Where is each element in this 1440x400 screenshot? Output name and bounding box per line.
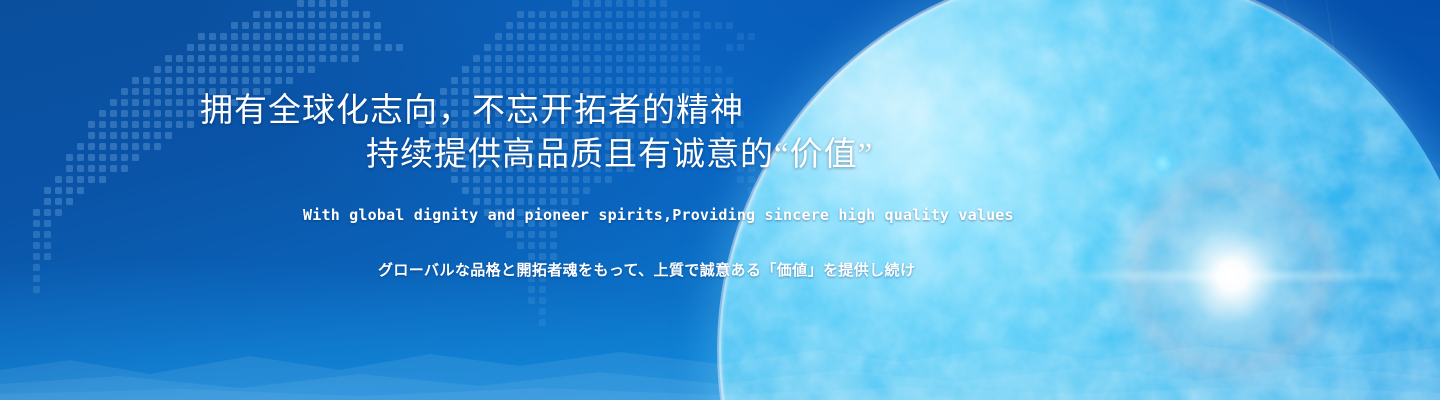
subtitle-japanese: グローバルな品格と開拓者魂をもって、上質で誠意ある「価値」を提供し続け: [378, 259, 915, 280]
hero-banner: 拥有全球化志向，不忘开拓者的精神 持续提供高品质且有诚意的“价值” With g…: [0, 0, 1440, 400]
subtitle-english: With global dignity and pioneer spirits,…: [303, 206, 1014, 224]
banner-copy: 拥有全球化志向，不忘开拓者的精神 持续提供高品质且有诚意的“价值” With g…: [0, 0, 1100, 400]
headline-line-2: 持续提供高品质且有诚意的“价值”: [366, 136, 873, 174]
headline-line-1: 拥有全球化志向，不忘开拓者的精神: [200, 92, 744, 130]
lens-flare-dot-icon: [1146, 146, 1180, 180]
sun-flare-icon: [1147, 191, 1317, 361]
